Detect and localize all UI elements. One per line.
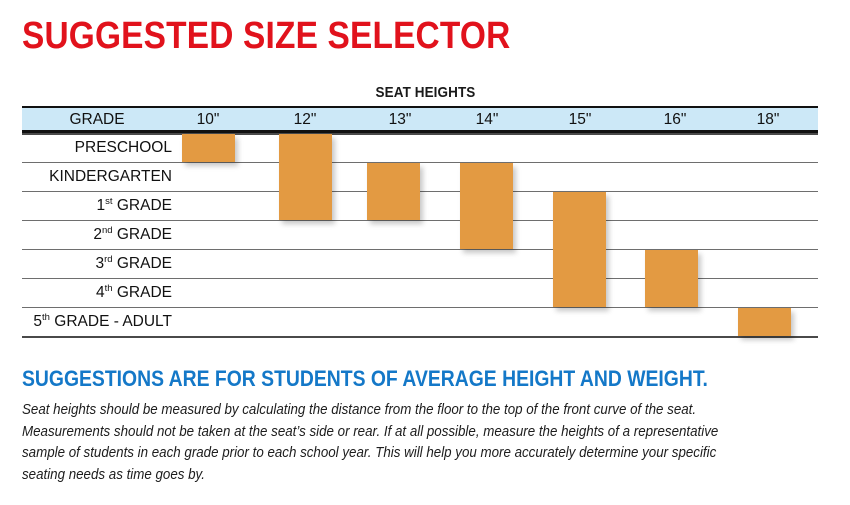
- row-divider: [22, 336, 818, 338]
- size-bar-2: [279, 134, 332, 220]
- table-body: PRESCHOOLKINDERGARTEN1st GRADE2nd GRADE3…: [22, 133, 818, 336]
- size-selector-page: SUGGESTED SIZE SELECTOR SEAT HEIGHTS GRA…: [0, 0, 850, 505]
- size-bar-6: [645, 250, 698, 307]
- size-bar-7: [738, 308, 791, 336]
- paragraph-line: sample of students in each grade prior t…: [22, 443, 767, 465]
- table-header-row: GRADE10"12"13"14"15"16"18": [22, 108, 818, 130]
- paragraph-line: seating needs as time goes by.: [22, 465, 767, 487]
- grade-row-label: 3rd GRADE: [22, 250, 172, 278]
- column-header-grade: GRADE: [22, 109, 172, 130]
- grade-row-label: 2nd GRADE: [22, 221, 172, 249]
- seat-heights-caption-text: SEAT HEIGHTS: [375, 84, 475, 101]
- explanatory-paragraph: Seat heights should be measured by calcu…: [22, 400, 832, 486]
- size-bar-5: [553, 192, 606, 307]
- column-header-1: 10": [168, 109, 248, 130]
- column-header-4: 14": [447, 109, 527, 130]
- suggestions-subhead: SUGGESTIONS ARE FOR STUDENTS OF AVERAGE …: [22, 366, 708, 392]
- column-header-7: 18": [728, 109, 808, 130]
- grade-row-label: 5th GRADE - ADULT: [22, 308, 172, 336]
- size-bar-3: [367, 163, 420, 220]
- size-bar-1: [182, 134, 235, 162]
- column-header-2: 12": [265, 109, 345, 130]
- grade-row-label: KINDERGARTEN: [22, 163, 172, 191]
- size-bar-4: [460, 163, 513, 249]
- column-header-3: 13": [360, 109, 440, 130]
- grade-row-label: PRESCHOOL: [22, 134, 172, 162]
- column-header-5: 15": [540, 109, 620, 130]
- size-selector-table: GRADE10"12"13"14"15"16"18" PRESCHOOLKIND…: [22, 106, 818, 336]
- seat-heights-caption: SEAT HEIGHTS: [0, 84, 850, 101]
- column-header-6: 16": [635, 109, 715, 130]
- paragraph-line: Seat heights should be measured by calcu…: [22, 400, 767, 422]
- paragraph-line: Measurements should not be taken at the …: [22, 422, 767, 444]
- grade-row-label: 4th GRADE: [22, 279, 172, 307]
- page-title: SUGGESTED SIZE SELECTOR: [22, 14, 510, 58]
- grade-row-label: 1st GRADE: [22, 192, 172, 220]
